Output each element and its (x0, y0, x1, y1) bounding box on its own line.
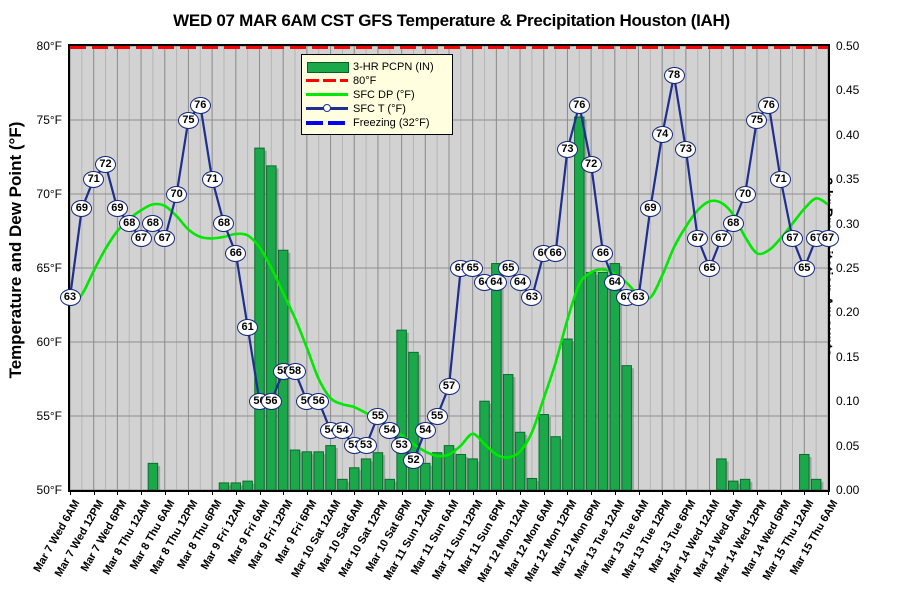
legend-item-label: Freezing (32°F) (353, 117, 430, 129)
temperature-point-label: 71 (770, 171, 791, 188)
y-axis-left-tick-label: 75°F (16, 113, 62, 127)
x-axis-tick-mark (686, 490, 687, 495)
x-axis-tick-mark (615, 490, 616, 495)
y-axis-right-tick-label: 0.50 (836, 39, 882, 53)
temperature-point-label: 63 (60, 289, 81, 306)
temperature-point-label: 72 (95, 156, 116, 173)
x-axis-tick-mark (425, 490, 426, 495)
temperature-point-label: 70 (735, 186, 756, 203)
legend-item[interactable]: 3-HR PCPN (IN) (306, 60, 447, 73)
x-axis-tick-mark (236, 490, 237, 495)
legend-item[interactable]: Freezing (32°F) (306, 116, 447, 129)
y-axis-left-tick-label: 70°F (16, 187, 62, 201)
temperature-point-label: 74 (652, 126, 673, 143)
chart-title: WED 07 MAR 6AM CST GFS Temperature & Pre… (0, 11, 903, 31)
x-axis-tick-mark (757, 490, 758, 495)
temperature-point-label: 67 (782, 230, 803, 247)
y-axis-right-tick-label: 0.20 (836, 305, 882, 319)
temperature-point-label: 66 (225, 245, 246, 262)
y-axis-right-tick-label: 0.30 (836, 217, 882, 231)
temperature-point-label: 76 (190, 97, 211, 114)
y-axis-right-tick-label: 0.10 (836, 394, 882, 408)
temperature-point-label: 70 (166, 186, 187, 203)
temperature-point-label: 67 (711, 230, 732, 247)
temperature-point-label: 66 (592, 245, 613, 262)
y-axis-left-tick-label: 55°F (16, 409, 62, 423)
green-line-icon (306, 89, 348, 100)
y-axis-right-tick-label: 0.35 (836, 172, 882, 186)
legend-item-label: 80°F (353, 75, 376, 87)
temperature-point-label: 52 (403, 452, 424, 469)
temperature-point-label: 75 (178, 112, 199, 129)
red-dashed-line-icon (306, 75, 348, 86)
x-axis-tick-mark (165, 490, 166, 495)
temperature-point-label: 71 (83, 171, 104, 188)
temperature-point-label: 71 (202, 171, 223, 188)
temperature-point-label: 53 (356, 437, 377, 454)
temperature-point-label: 56 (308, 393, 329, 410)
temperature-point-label: 67 (131, 230, 152, 247)
legend-item-label: SFC DP (°F) (353, 89, 415, 101)
x-axis-tick-mark (283, 490, 284, 495)
x-axis-tick-mark (354, 490, 355, 495)
temperature-point-label: 65 (794, 260, 815, 277)
y-axis-right-tick-label: 0.40 (836, 128, 882, 142)
temperature-point-label: 72 (581, 156, 602, 173)
temperature-point-label: 73 (557, 141, 578, 158)
y-axis-right-tick-label: 0.15 (836, 350, 882, 364)
legend-swatch (306, 121, 348, 125)
x-axis-tick-mark (402, 490, 403, 495)
blue-dashed-line-icon (306, 117, 348, 128)
x-axis-tick-mark (639, 490, 640, 495)
x-axis-tick-mark (378, 490, 379, 495)
temperature-point-label: 56 (261, 393, 282, 410)
temperature-point-label: 76 (569, 97, 590, 114)
temperature-point-label: 68 (119, 215, 140, 232)
x-axis-tick-mark (449, 490, 450, 495)
x-axis-tick-mark (473, 490, 474, 495)
legend-swatch (306, 79, 348, 82)
x-axis-tick-mark (733, 490, 734, 495)
y-axis-left-tick-label: 50°F (16, 483, 62, 497)
temperature-point-label: 58 (285, 363, 306, 380)
legend-swatch (306, 93, 348, 96)
x-axis-tick-mark (212, 490, 213, 495)
temperature-point-label: 75 (746, 112, 767, 129)
temperature-point-label: 61 (237, 319, 258, 336)
temperature-point-label: 78 (664, 67, 685, 84)
x-axis-tick-mark (591, 490, 592, 495)
y-axis-right-tick-label: 0.05 (836, 439, 882, 453)
x-axis-tick-mark (94, 490, 95, 495)
temperature-point-label: 63 (628, 289, 649, 306)
legend-item[interactable]: 80°F (306, 74, 447, 87)
legend-item[interactable]: SFC DP (°F) (306, 88, 447, 101)
y-axis-left-tick-label: 65°F (16, 261, 62, 275)
y-axis-left-tick-label: 60°F (16, 335, 62, 349)
x-axis-tick-mark (828, 490, 829, 495)
temperature-point-label: 76 (758, 97, 779, 114)
y-axis-right-tick-label: 0.00 (836, 483, 882, 497)
x-axis-tick-mark (781, 490, 782, 495)
temperature-point-label: 66 (545, 245, 566, 262)
bar-swatch-icon (306, 61, 348, 72)
navy-line-marker-icon (306, 103, 348, 114)
x-axis-tick-mark (117, 490, 118, 495)
temperature-point-label: 65 (699, 260, 720, 277)
x-axis-tick-mark (567, 490, 568, 495)
x-axis-tick-mark (496, 490, 497, 495)
y-axis-left-tick-label: 80°F (16, 39, 62, 53)
legend-item[interactable]: SFC T (°F) (306, 102, 447, 115)
x-axis-tick-mark (331, 490, 332, 495)
x-axis-tick-mark (188, 490, 189, 495)
x-axis-tick-mark (710, 490, 711, 495)
legend-swatch (306, 107, 348, 110)
temperature-point-label: 67 (818, 230, 839, 247)
legend-swatch (307, 62, 349, 73)
x-axis-tick-mark (307, 490, 308, 495)
temperature-point-label: 57 (439, 378, 460, 395)
x-axis-tick-mark (544, 490, 545, 495)
y-axis-right-tick-label: 0.25 (836, 261, 882, 275)
x-axis-tick-mark (70, 490, 71, 495)
legend-item-label: SFC T (°F) (353, 103, 406, 115)
temperature-point-label: 68 (723, 215, 744, 232)
x-axis-tick-mark (520, 490, 521, 495)
x-axis-tick-mark (141, 490, 142, 495)
chart-legend: 3-HR PCPN (IN)80°FSFC DP (°F)SFC T (°F)F… (301, 54, 453, 135)
temperature-point-label: 67 (154, 230, 175, 247)
temperature-point-label: 67 (687, 230, 708, 247)
legend-item-label: 3-HR PCPN (IN) (353, 61, 434, 73)
temperature-point-label: 55 (427, 408, 448, 425)
x-axis-tick-mark (260, 490, 261, 495)
x-axis-tick-mark (804, 490, 805, 495)
x-axis-tick-mark (662, 490, 663, 495)
y-axis-right-tick-label: 0.45 (836, 83, 882, 97)
